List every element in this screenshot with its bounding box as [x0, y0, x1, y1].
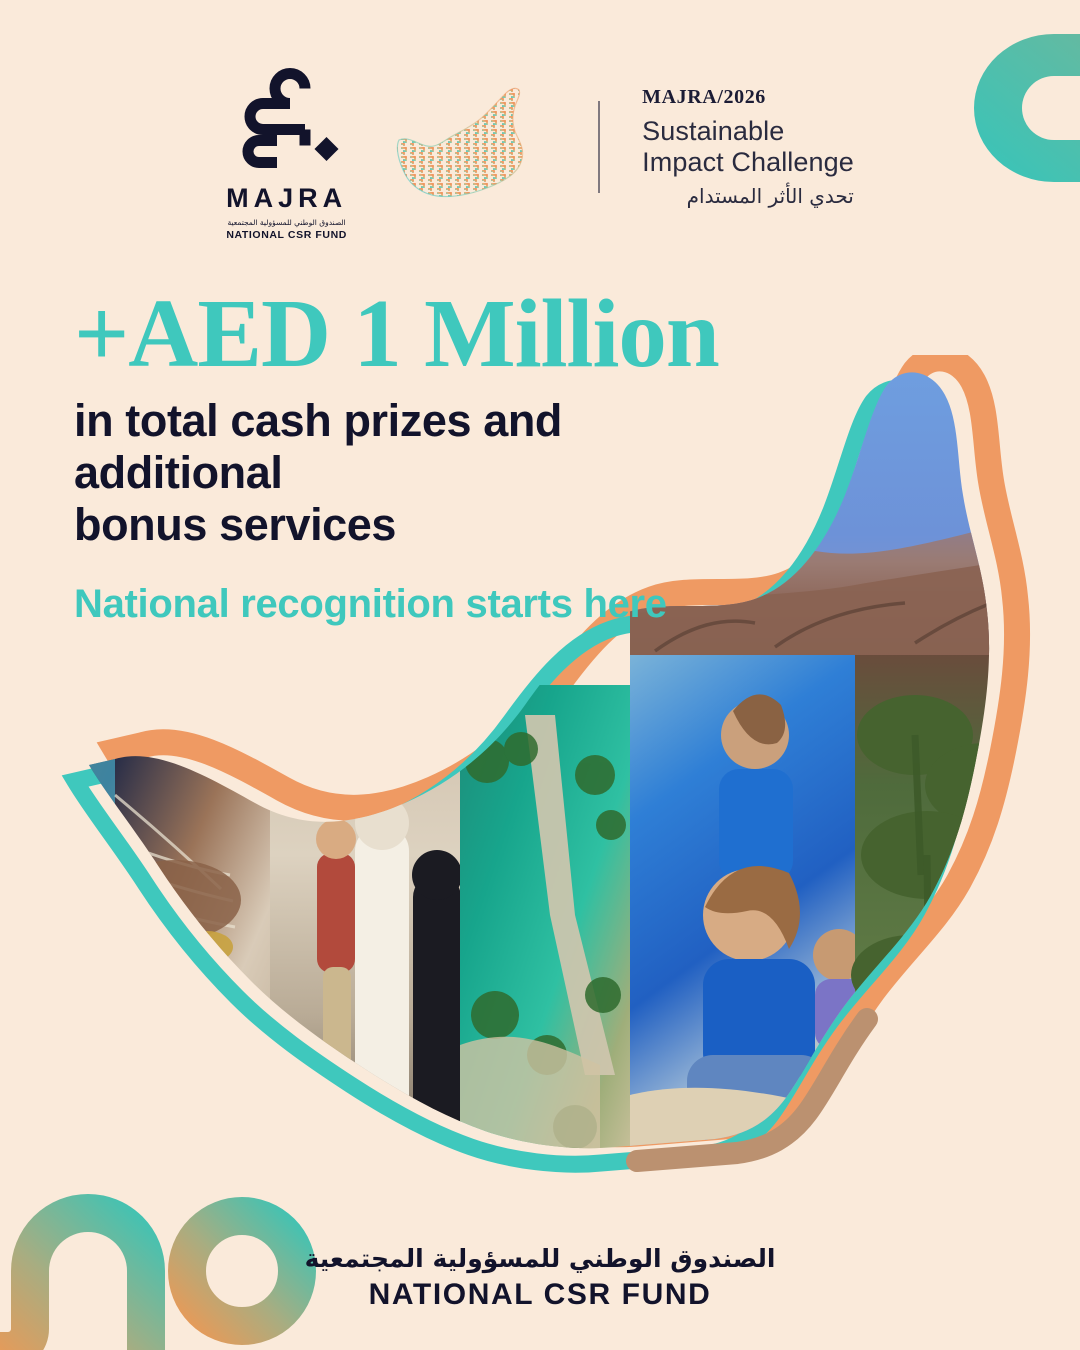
challenge-title-arabic: تحدي الأثر المستدام: [642, 186, 854, 206]
brand-header: MAJRA الصندوق الوطني للمسؤولية المجتمعية…: [0, 52, 1080, 241]
prize-subhead-line-2: bonus services: [74, 499, 774, 551]
challenge-title-block: MAJRA/2026 Sustainable Impact Challenge …: [642, 87, 854, 207]
challenge-title-line-2: Impact Challenge: [642, 147, 854, 178]
majra-english-sublabel: NATIONAL CSR FUND: [226, 229, 347, 241]
footer-arabic-label: الصندوق الوطني للمسؤولية المجتمعية: [0, 1244, 1080, 1273]
prize-subhead: in total cash prizes and additional bonu…: [74, 395, 774, 552]
challenge-title-line-1: Sustainable: [642, 116, 854, 147]
footer-english-label: NATIONAL CSR FUND: [0, 1278, 1080, 1312]
majra-arabic-sublabel: الصندوق الوطني للمسؤولية المجتمعية: [227, 218, 345, 227]
majra-monogram-icon: [233, 52, 341, 187]
prize-subhead-line-1: in total cash prizes and additional: [74, 395, 774, 499]
headline-copy-block: +AED 1 Million in total cash prizes and …: [74, 286, 864, 626]
prize-headline: +AED 1 Million: [74, 286, 864, 381]
emirati-family-panel: [270, 685, 462, 1185]
majra-logo-lockup[interactable]: MAJRA الصندوق الوطني للمسؤولية المجتمعية…: [226, 52, 347, 241]
volunteers-panel: [630, 645, 865, 1185]
majra-wordmark: MAJRA: [226, 183, 347, 214]
footer-brand: الصندوق الوطني للمسؤولية المجتمعية NATIO…: [0, 1244, 1080, 1312]
recognition-tagline: National recognition starts here: [74, 582, 864, 626]
challenge-kicker: MAJRA/2026: [642, 87, 854, 107]
poster-canvas: MAJRA الصندوق الوطني للمسؤولية المجتمعية…: [0, 0, 1080, 1350]
uae-kufic-map-icon: [391, 84, 566, 210]
mangrove-aerial-panel: [460, 685, 630, 1185]
header-divider: [598, 101, 600, 193]
